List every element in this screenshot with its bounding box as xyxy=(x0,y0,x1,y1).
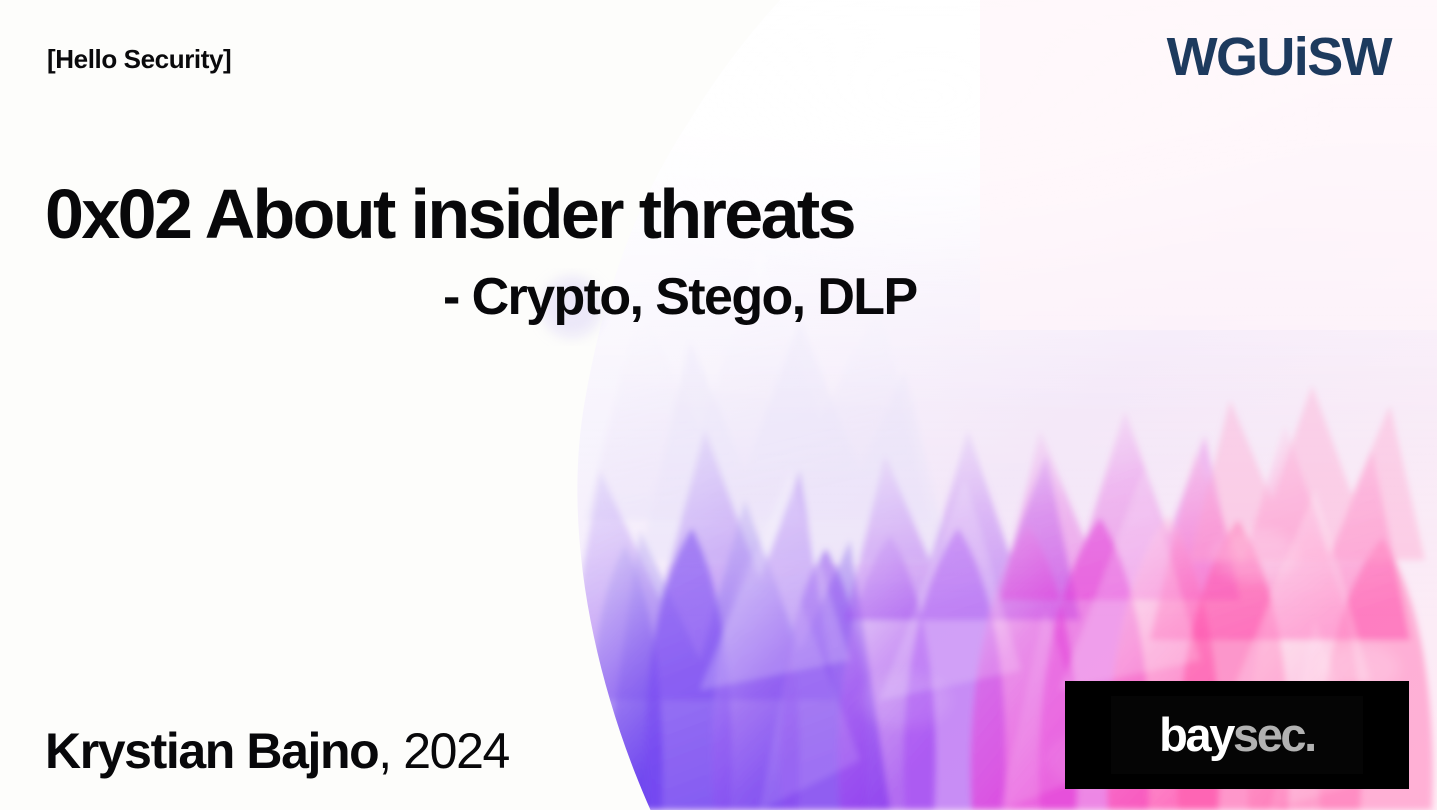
baysec-wordmark-secondary: sec. xyxy=(1233,708,1315,761)
author-credit: Krystian Bajno, 2024 xyxy=(45,722,509,780)
baysec-wordmark: baysec. xyxy=(1159,711,1315,758)
slide-subtitle: - Crypto, Stego, DLP xyxy=(443,271,917,323)
baysec-logo-block: baysec. xyxy=(1065,681,1409,789)
slide-kicker: [Hello Security] xyxy=(47,44,231,75)
baysec-logo-inner: baysec. xyxy=(1111,696,1363,774)
slide-title: 0x02 About insider threats xyxy=(45,179,854,249)
slide-content: [Hello Security] WGUiSW 0x02 About insid… xyxy=(0,0,1437,810)
baysec-wordmark-primary: bay xyxy=(1159,708,1233,761)
presentation-slide: [Hello Security] WGUiSW 0x02 About insid… xyxy=(0,0,1437,810)
author-year: , 2024 xyxy=(378,723,509,779)
wguisw-logo: WGUiSW xyxy=(1167,26,1391,88)
author-name: Krystian Bajno xyxy=(45,723,378,779)
